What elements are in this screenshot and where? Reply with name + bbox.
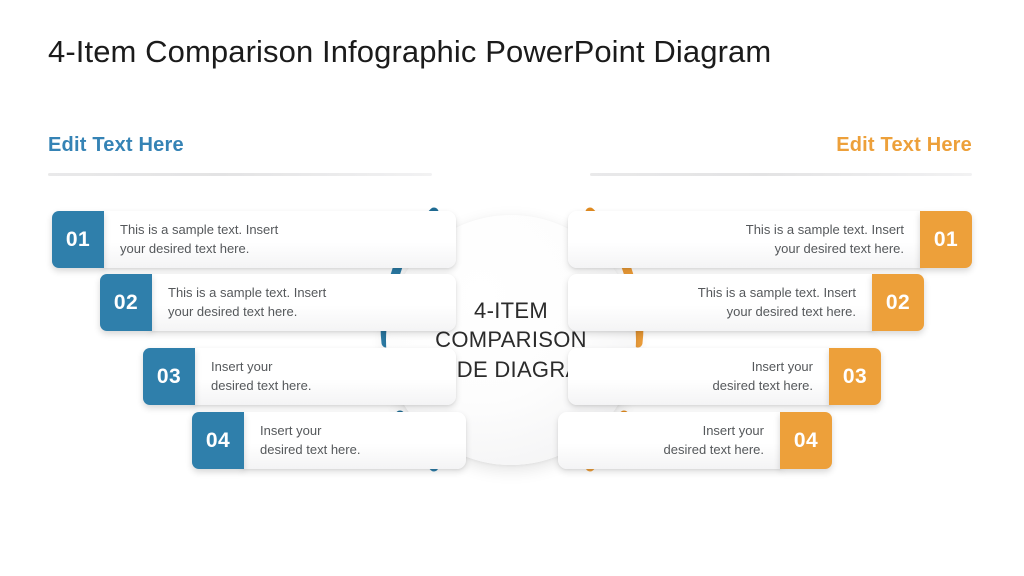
right-item-01-number: 01 [920, 211, 972, 268]
left-item-02-body[interactable]: This is a sample text. Insert your desir… [150, 274, 456, 331]
right-header-divider [590, 173, 972, 176]
left-item-03-number: 03 [143, 348, 195, 405]
right-item-03[interactable]: Insert your desired text here. 03 [568, 348, 881, 405]
left-item-02-number: 02 [100, 274, 152, 331]
right-item-02-body[interactable]: This is a sample text. Insert your desir… [568, 274, 874, 331]
left-item-03-text: Insert your desired text here. [211, 358, 311, 395]
left-item-02-text: This is a sample text. Insert your desir… [168, 284, 326, 321]
left-column-header[interactable]: Edit Text Here [48, 134, 184, 157]
left-item-04-text: Insert your desired text here. [260, 422, 360, 459]
right-item-04[interactable]: Insert your desired text here. 04 [558, 412, 832, 469]
left-item-01[interactable]: 01 This is a sample text. Insert your de… [52, 211, 456, 268]
right-item-03-body[interactable]: Insert your desired text here. [568, 348, 831, 405]
left-item-02[interactable]: 02 This is a sample text. Insert your de… [100, 274, 456, 331]
right-item-04-body[interactable]: Insert your desired text here. [558, 412, 782, 469]
right-item-03-text: Insert your desired text here. [713, 358, 813, 395]
left-item-04[interactable]: 04 Insert your desired text here. [192, 412, 466, 469]
right-item-01-text: This is a sample text. Insert your desir… [746, 221, 904, 258]
left-item-03-body[interactable]: Insert your desired text here. [193, 348, 456, 405]
right-item-03-number: 03 [829, 348, 881, 405]
right-item-01[interactable]: This is a sample text. Insert your desir… [568, 211, 972, 268]
right-item-01-body[interactable]: This is a sample text. Insert your desir… [568, 211, 922, 268]
left-item-04-body[interactable]: Insert your desired text here. [242, 412, 466, 469]
left-item-03[interactable]: 03 Insert your desired text here. [143, 348, 456, 405]
left-header-divider [48, 173, 432, 176]
right-item-02-number: 02 [872, 274, 924, 331]
right-column-header[interactable]: Edit Text Here [836, 134, 972, 157]
left-item-01-text: This is a sample text. Insert your desir… [120, 221, 278, 258]
right-item-04-text: Insert your desired text here. [664, 422, 764, 459]
right-item-04-number: 04 [780, 412, 832, 469]
slide-canvas: 4-Item Comparison Infographic PowerPoint… [0, 0, 1024, 576]
left-item-01-body[interactable]: This is a sample text. Insert your desir… [102, 211, 456, 268]
right-item-02-text: This is a sample text. Insert your desir… [698, 284, 856, 321]
right-item-02[interactable]: This is a sample text. Insert your desir… [568, 274, 924, 331]
page-title: 4-Item Comparison Infographic PowerPoint… [48, 34, 771, 70]
left-item-04-number: 04 [192, 412, 244, 469]
left-item-01-number: 01 [52, 211, 104, 268]
